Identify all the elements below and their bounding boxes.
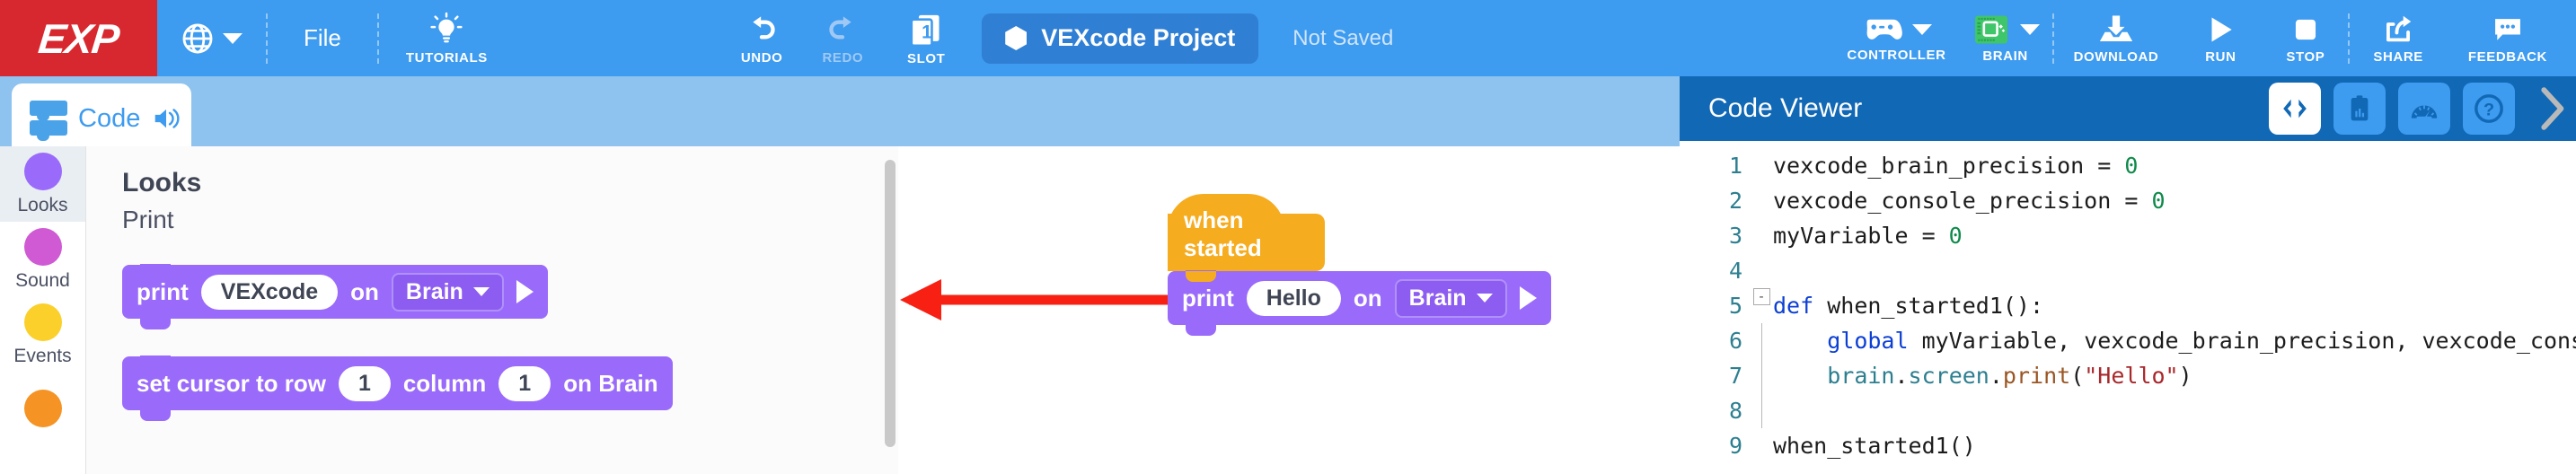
category-dot-sound <box>24 228 62 266</box>
line-number: 6 <box>1680 323 1750 358</box>
category-dot-control <box>24 390 62 427</box>
sidebar-item-sound[interactable]: Sound <box>0 222 85 297</box>
sidebar-item-looks[interactable]: Looks <box>0 146 85 222</box>
block-device-dropdown[interactable]: Brain <box>1395 279 1507 318</box>
category-dot-events <box>24 303 62 341</box>
lightbulb-icon <box>428 12 464 48</box>
block-label: column <box>403 370 486 398</box>
stop-label: STOP <box>2286 49 2325 65</box>
code-tokens: vexcode_brain_precision = 0 <box>1773 148 2138 183</box>
indent-guide <box>1750 323 1773 358</box>
undo-label: UNDO <box>741 50 783 66</box>
vexcode-app: EXP File <box>0 0 2576 474</box>
line-number: 2 <box>1680 183 1750 218</box>
sidebar-item-label: Looks <box>17 195 67 216</box>
code-line: 7 brain.screen.print("Hello") <box>1680 358 2576 393</box>
palette-scrollbar[interactable] <box>885 160 895 447</box>
code-line: 5-def when_started1(): <box>1680 288 2576 323</box>
code-line: 6 global myVariable, vexcode_brain_preci… <box>1680 323 2576 358</box>
block-label: set cursor to row <box>137 370 326 398</box>
redo-button[interactable]: REDO <box>802 0 883 76</box>
palette-print-block[interactable]: print VEXcode on Brain <box>122 265 548 319</box>
code-tokens: global myVariable, vexcode_brain_precisi… <box>1773 323 2576 358</box>
run-label: RUN <box>2205 49 2236 65</box>
redo-icon <box>823 12 862 48</box>
chevron-down-icon <box>473 287 490 296</box>
block-label: print <box>1182 285 1234 312</box>
code-fold-toggle[interactable]: - <box>1750 288 1773 305</box>
controller-label: CONTROLLER <box>1847 48 1945 63</box>
chevron-down-icon <box>223 33 243 44</box>
block-text-input[interactable]: Hello <box>1247 281 1341 316</box>
code-viewer-panel: Code Viewer <box>1680 76 2576 474</box>
gamepad-icon <box>1860 14 1903 45</box>
code-tokens: brain.screen.print("Hello") <box>1773 358 2192 393</box>
top-toolbar: EXP File <box>0 0 2576 76</box>
indent-guide <box>1750 393 1773 428</box>
file-menu-button[interactable]: File <box>268 0 377 76</box>
palette-subheading: Print <box>122 206 898 234</box>
code-line: 1vexcode_brain_precision = 0 <box>1680 148 2576 183</box>
feedback-label: FEEDBACK <box>2468 49 2547 65</box>
feedback-speech-icon <box>2488 13 2527 47</box>
file-menu-label: File <box>304 24 341 52</box>
stop-square-icon <box>2287 13 2325 47</box>
palette-heading: Looks <box>122 168 898 198</box>
download-button[interactable]: DOWNLOAD <box>2054 0 2179 76</box>
code-viewer-title: Code Viewer <box>1708 93 2256 124</box>
line-number: 3 <box>1680 218 1750 253</box>
help-button[interactable]: ? <box>2463 83 2515 135</box>
sidebar-item-label: Sound <box>15 270 70 292</box>
chevron-down-icon[interactable] <box>1912 24 1932 35</box>
language-selector[interactable] <box>157 0 266 76</box>
block-label: on <box>350 278 379 306</box>
line-number: 5 <box>1680 288 1750 323</box>
block-device-dropdown[interactable]: Brain <box>392 273 504 312</box>
feedback-button[interactable]: FEEDBACK <box>2447 0 2569 76</box>
block-label: on Brain <box>563 370 657 398</box>
line-number: 9 <box>1680 428 1750 463</box>
download-icon <box>2095 13 2137 47</box>
chevron-down-icon[interactable] <box>2020 24 2040 35</box>
stop-button[interactable]: STOP <box>2263 0 2348 76</box>
category-dot-looks <box>24 153 62 190</box>
block-text-input[interactable]: VEXcode <box>201 275 338 310</box>
palette-set-cursor-block[interactable]: set cursor to row 1 column 1 on Brain <box>122 356 673 410</box>
redo-label: REDO <box>822 50 863 66</box>
code-line: 8 <box>1680 393 2576 428</box>
code-tokens: vexcode_console_precision = 0 <box>1773 183 2166 218</box>
code-tokens: when_started1() <box>1773 428 1976 463</box>
edit-controls: UNDO REDO 1 <box>721 0 1394 76</box>
indent-guide <box>1750 358 1773 393</box>
workspace-print-block[interactable]: print Hello on Brain <box>1168 271 1551 325</box>
brain-chip-icon <box>1972 13 2011 46</box>
slot-icon: 1 <box>906 11 946 48</box>
tab-bar: Code <box>0 76 1680 146</box>
code-line: 4 <box>1680 253 2576 288</box>
controller-button[interactable]: CONTROLLER <box>1829 0 1958 76</box>
sidebar-item-control[interactable] <box>0 373 85 448</box>
exp-logo[interactable]: EXP <box>0 0 157 76</box>
when-started-label: when started <box>1184 206 1325 262</box>
line-number: 8 <box>1680 393 1750 428</box>
code-line: 2vexcode_console_precision = 0 <box>1680 183 2576 218</box>
code-line: 9when_started1() <box>1680 428 2576 463</box>
when-started-block[interactable]: when started <box>1168 214 1325 271</box>
svg-text:1: 1 <box>922 22 932 42</box>
slot-label: SLOT <box>907 51 945 66</box>
code-viewer-header: Code Viewer <box>1680 76 2576 141</box>
tutorials-label: TUTORIALS <box>406 50 488 66</box>
code-tokens: def when_started1(): <box>1773 288 2043 323</box>
slot-button[interactable]: 1 SLOT <box>883 0 969 76</box>
block-label: on <box>1354 285 1382 312</box>
expand-panel-button[interactable] <box>2527 85 2576 132</box>
download-label: DOWNLOAD <box>2074 49 2159 65</box>
run-button[interactable]: RUN <box>2178 0 2263 76</box>
dashboard-gauge-button[interactable] <box>2398 83 2450 135</box>
project-name-label: VEXcode Project <box>1041 24 1235 52</box>
line-number: 7 <box>1680 358 1750 393</box>
exp-logo-text: EXP <box>36 14 121 63</box>
line-number: 4 <box>1680 253 1750 288</box>
sound-speaker-icon[interactable] <box>151 105 181 132</box>
svg-text:?: ? <box>2483 101 2494 120</box>
share-button[interactable]: SHARE <box>2350 0 2447 76</box>
tab-code-label: Code <box>78 104 140 134</box>
code-line: 3myVariable = 0 <box>1680 218 2576 253</box>
block-row-input[interactable]: 1 <box>339 366 391 401</box>
brain-label: BRAIN <box>1982 48 2028 64</box>
chevron-right-icon <box>2536 85 2567 132</box>
workspace-print-block-wrap: print Hello on Brain <box>1168 271 1551 325</box>
console-monitor-icon <box>2345 94 2374 123</box>
category-rail: Looks Sound Events <box>0 146 86 474</box>
block-workspace[interactable]: when started print Hello on Brain <box>898 146 1680 474</box>
console-monitor-button[interactable] <box>2333 83 2386 135</box>
save-status: Not Saved <box>1292 26 1393 51</box>
undo-button[interactable]: UNDO <box>721 0 803 76</box>
block-run-icon[interactable] <box>516 280 534 303</box>
tutorials-button[interactable]: TUTORIALS <box>379 0 515 76</box>
project-hexagon-icon <box>1005 26 1027 50</box>
sidebar-item-label: Events <box>13 346 71 367</box>
dropdown-value: Brain <box>406 279 463 305</box>
code-brackets-button[interactable] <box>2269 83 2321 135</box>
undo-icon <box>742 12 781 48</box>
brain-button[interactable]: BRAIN <box>1959 0 2052 76</box>
block-column-input[interactable]: 1 <box>498 366 551 401</box>
dashboard-gauge-icon <box>2409 95 2439 122</box>
block-label: print <box>137 278 189 306</box>
device-controls: CONTROLLER <box>1829 0 2576 76</box>
line-number: 1 <box>1680 148 1750 183</box>
block-run-icon[interactable] <box>1520 286 1537 310</box>
code-text-area[interactable]: 1vexcode_brain_precision = 02vexcode_con… <box>1680 141 2576 474</box>
help-question-icon: ? <box>2474 93 2504 124</box>
chevron-down-icon <box>1477 294 1493 303</box>
code-tokens: myVariable = 0 <box>1773 218 1963 253</box>
code-brackets-icon <box>2280 95 2310 122</box>
block-palette: Looks Print print VEXcode on Brain set c… <box>86 146 898 474</box>
dropdown-value: Brain <box>1409 285 1467 312</box>
play-icon <box>2201 13 2239 47</box>
tab-code[interactable]: Code <box>12 83 191 154</box>
project-name-button[interactable]: VEXcode Project <box>982 13 1258 64</box>
share-label: SHARE <box>2373 49 2423 65</box>
globe-icon <box>181 22 215 56</box>
blocks-icon <box>30 100 67 137</box>
share-icon <box>2378 13 2418 47</box>
sidebar-item-events[interactable]: Events <box>0 297 85 373</box>
